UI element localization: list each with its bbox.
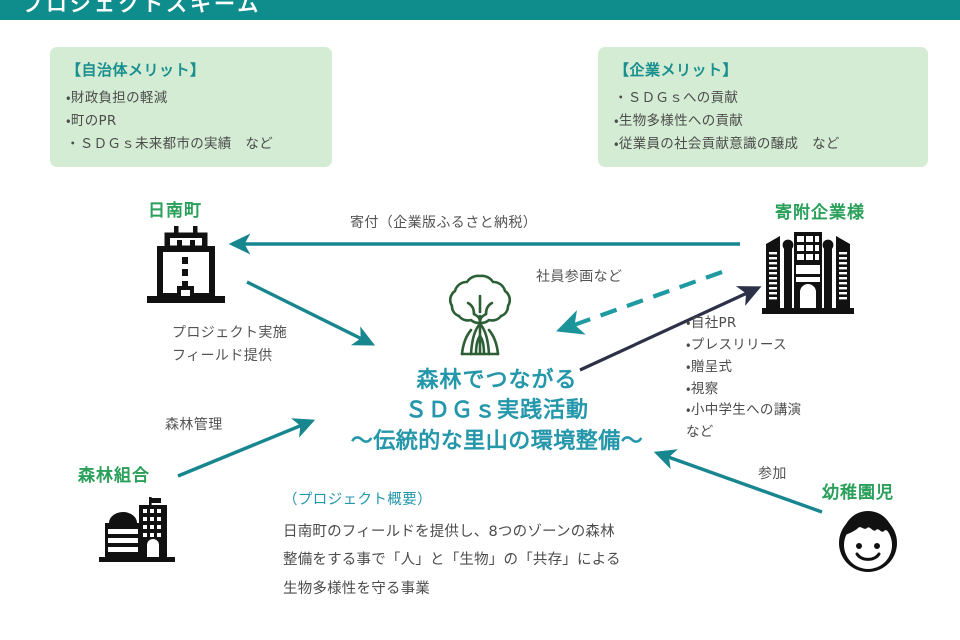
company-benefit-item: ・贈呈式 [686, 357, 801, 379]
project-overview: （プロジェクト概要） 日南町のフィールドを提供し、8つのゾーンの森林 整備をする… [283, 488, 703, 603]
center-title-line2: ＳＤＧｓ実践活動 [332, 396, 662, 426]
flow-label-field-provision: プロジェクト実施 フィールド提供 [172, 322, 342, 368]
municipality-merit-title: 【自治体メリット】 [66, 59, 316, 80]
company-merit-item: ・生物多様性への貢献 [614, 110, 912, 133]
child-face-icon [833, 506, 903, 576]
company-merit-panel: 【企業メリット】 ・ＳＤＧｓへの貢献 ・生物多様性への貢献 ・従業員の社会貢献意… [598, 47, 928, 167]
flow-label-participation: 参加 [758, 463, 787, 483]
tree-icon [428, 272, 532, 366]
flow-label-field-provision-line1: プロジェクト実施 [172, 322, 342, 345]
company-merit-title: 【企業メリット】 [614, 59, 912, 80]
center-title: 森林でつながる ＳＤＧｓ実践活動 〜伝統的な里山の環境整備〜 [332, 366, 662, 457]
node-label-town: 日南町 [148, 196, 202, 221]
company-benefit-etc: など [686, 422, 801, 444]
company-benefit-item: ・小中学生への講演 [686, 400, 801, 422]
company-merit-item: ・ＳＤＧｓへの貢献 [614, 87, 912, 110]
company-benefit-item: ・プレスリリース [686, 335, 801, 357]
town-hall-icon [141, 224, 241, 308]
flow-label-donation: 寄付（企業版ふるさと納税） [350, 212, 537, 232]
center-title-line3: 〜伝統的な里山の環境整備〜 [332, 427, 662, 457]
node-label-company: 寄附企業様 [775, 198, 865, 223]
company-benefit-item: ・自社PR [686, 313, 801, 335]
cooperative-building-icon [97, 497, 177, 563]
flow-label-forest-management: 森林管理 [165, 414, 223, 434]
municipality-merit-item: ・町のPR [66, 110, 316, 133]
project-overview-line: 日南町のフィールドを提供し、8つのゾーンの森林 [283, 518, 703, 546]
flow-label-employee-participation: 社員参画など [536, 266, 622, 286]
project-overview-line: 生物多様性を守る事業 [283, 575, 703, 603]
company-benefits-list: ・自社PR ・プレスリリース ・贈呈式 ・視察 ・小中学生への講演 など [686, 313, 801, 444]
municipality-merit-item: ・財政負担の軽減 [66, 87, 316, 110]
office-buildings-icon [758, 226, 858, 318]
municipality-merit-item: ・ＳＤＧｓ未来都市の実績 など [66, 133, 316, 156]
center-title-line1: 森林でつながる [332, 366, 662, 396]
header-bar: プロジェクトスキーム [0, 0, 960, 20]
company-merit-item: ・従業員の社会貢献意識の醸成 など [614, 133, 912, 156]
company-benefit-item: ・視察 [686, 379, 801, 401]
project-overview-line: 整備をする事で「人」と「生物」の「共存」による [283, 546, 703, 574]
project-overview-heading: （プロジェクト概要） [283, 488, 703, 509]
page-title: プロジェクトスキーム [22, 0, 261, 18]
flow-label-field-provision-line2: フィールド提供 [172, 345, 342, 368]
node-label-forest-cooperative: 森林組合 [78, 461, 150, 486]
node-label-kindergarten: 幼稚園児 [822, 478, 894, 503]
project-scheme-diagram: プロジェクトスキーム 【自治体メリット】 ・財政負担の軽減 ・町のPR ・ＳＤＧ… [0, 0, 960, 640]
municipality-merit-panel: 【自治体メリット】 ・財政負担の軽減 ・町のPR ・ＳＤＧｓ未来都市の実績 など [50, 47, 332, 167]
